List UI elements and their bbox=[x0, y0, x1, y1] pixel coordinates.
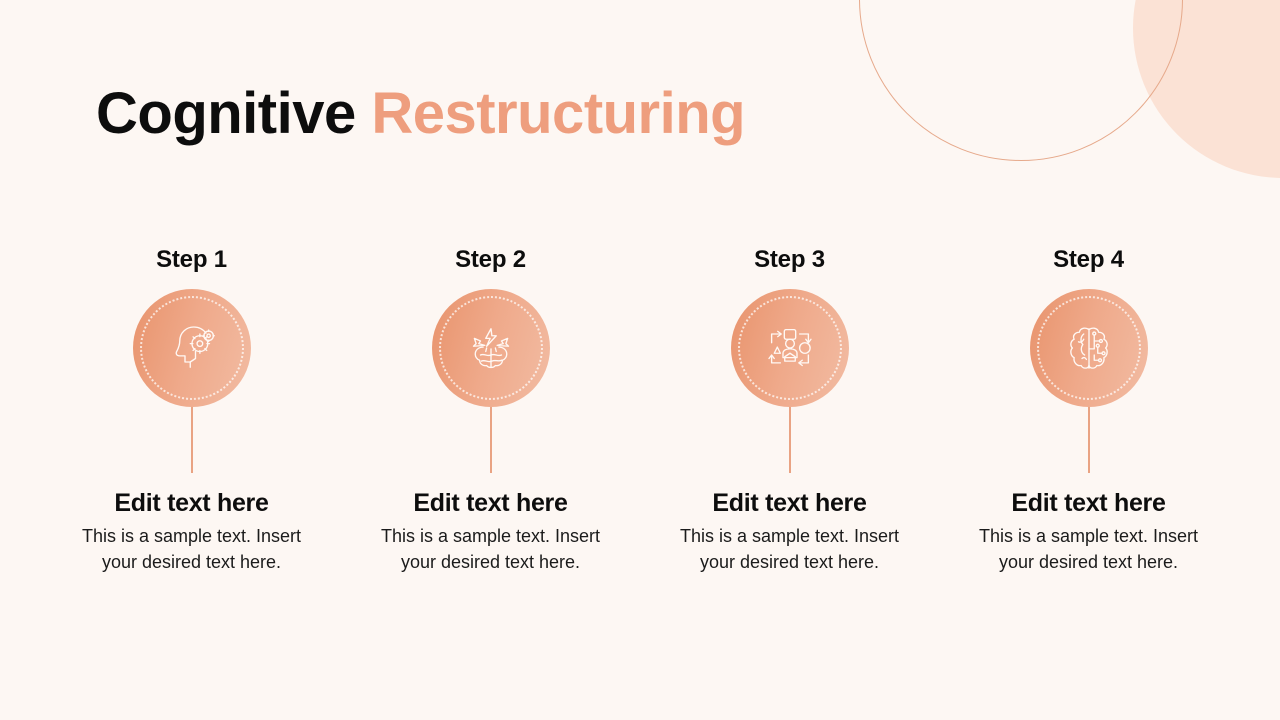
step-item-1[interactable]: Step 1 Edit text here This is a sample t… bbox=[42, 246, 341, 575]
step-description: This is a sample text. Insert your desir… bbox=[640, 524, 939, 575]
step-item-4[interactable]: Step 4 Edit tex bbox=[939, 246, 1238, 575]
step-label: Step 2 bbox=[455, 246, 526, 274]
step-text-block: Edit text here This is a sample text. In… bbox=[341, 489, 640, 575]
step-title: Edit text here bbox=[640, 489, 939, 518]
step-item-3[interactable]: Step 3 Edit text here bbox=[640, 246, 939, 575]
brain-with-lightning-icon bbox=[463, 320, 519, 376]
step-icon-badge[interactable] bbox=[133, 289, 251, 407]
step-icon-badge[interactable] bbox=[731, 289, 849, 407]
step-item-2[interactable]: Step 2 Edit text here This is a sample t… bbox=[341, 246, 640, 575]
step-description: This is a sample text. Insert your desir… bbox=[42, 524, 341, 575]
connector-line bbox=[1088, 407, 1090, 473]
step-label: Step 4 bbox=[1053, 246, 1124, 274]
step-icon-badge[interactable] bbox=[432, 289, 550, 407]
page-title-accent: Restructuring bbox=[371, 81, 745, 146]
step-description: This is a sample text. Insert your desir… bbox=[341, 524, 640, 575]
step-description: This is a sample text. Insert your desir… bbox=[939, 524, 1238, 575]
outline-circle-decoration bbox=[859, 0, 1183, 161]
step-text-block: Edit text here This is a sample text. In… bbox=[42, 489, 341, 575]
connector-line bbox=[490, 407, 492, 473]
step-icon-badge[interactable] bbox=[1030, 289, 1148, 407]
step-text-block: Edit text here This is a sample text. In… bbox=[939, 489, 1238, 575]
step-label: Step 1 bbox=[156, 246, 227, 274]
process-flow-person-icon bbox=[762, 320, 818, 376]
page-title-primary: Cognitive bbox=[96, 81, 371, 146]
step-title: Edit text here bbox=[939, 489, 1238, 518]
step-title: Edit text here bbox=[42, 489, 341, 518]
connector-line bbox=[789, 407, 791, 473]
steps-row: Step 1 Edit text here This is a sample t… bbox=[0, 246, 1280, 575]
head-with-gears-icon bbox=[164, 320, 220, 376]
brain-logic-creative-icon bbox=[1061, 320, 1117, 376]
page-title: Cognitive Restructuring bbox=[96, 82, 745, 146]
filled-circle-decoration bbox=[1133, 0, 1280, 178]
step-label: Step 3 bbox=[754, 246, 825, 274]
connector-line bbox=[191, 407, 193, 473]
step-title: Edit text here bbox=[341, 489, 640, 518]
step-text-block: Edit text here This is a sample text. In… bbox=[640, 489, 939, 575]
